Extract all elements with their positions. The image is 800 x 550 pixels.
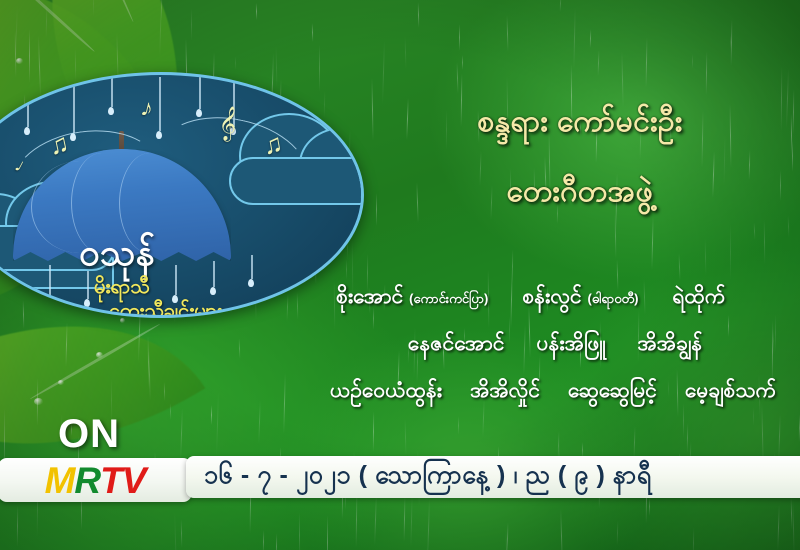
performer-name: ယဉ်ဝေယံထွန်း: [330, 377, 442, 408]
raindrop-icon: [199, 72, 201, 109]
mrtv-letter-r: R: [74, 462, 100, 499]
performer-name: ဆွေဆွေမြင့်: [568, 377, 657, 408]
broadcast-promo-graphic: ♫ ♩ ♪ 𝄞 ♫ ဝသုန် မိုးရာသီ တေးသီချင်းများ …: [0, 0, 800, 550]
performer-row: နေဇင်အောင် ပန်းအိဖြူ အိအိချွန်: [330, 330, 800, 377]
water-droplet: [16, 58, 23, 64]
raindrop-icon: [73, 75, 75, 133]
performer-name: ပန်းအိဖြူ: [536, 330, 605, 361]
water-droplet: [58, 380, 64, 385]
mrtv-letter-v: V: [122, 462, 146, 499]
schedule-text: ၁၆ - ၇ - ၂၀၂၁ ( သောကြာနေ့ ) ၊ ည ( ၉ ) နာ…: [186, 459, 652, 496]
treble-clef-icon: 𝄞: [217, 108, 239, 140]
raindrop-icon: [87, 271, 89, 299]
performer-name: စန်းလွင် (ဓါရာဝတီ): [522, 283, 638, 314]
raindrop-icon: [46, 299, 52, 307]
raindrop-icon: [24, 127, 30, 135]
raindrop-icon: [175, 265, 177, 295]
raindrop-icon: [172, 295, 178, 303]
schedule-bar: ၁၆ - ၇ - ၂၀၂၁ ( သောကြာနေ့ ) ၊ ည ( ၉ ) နာ…: [186, 456, 800, 498]
raindrop-icon: [159, 77, 161, 131]
water-droplet: [34, 398, 43, 405]
raindrop-icon: [27, 81, 29, 127]
water-droplet: [96, 352, 103, 358]
raindrop-icon: [156, 131, 162, 139]
performer-name: စိုးအောင် (ကောင်းကင်ပြာ): [336, 283, 488, 314]
raindrop-icon: [251, 255, 253, 279]
channel-logo: ON M R T V: [40, 414, 200, 502]
raindrop-icon: [84, 299, 90, 307]
raindrop-icon: [213, 261, 215, 287]
performer-row: စိုးအောင် (ကောင်းကင်ပြာ) စန်းလွင် (ဓါရာဝ…: [330, 283, 800, 330]
performer-name: အိအိလှိုင်: [470, 377, 540, 408]
water-droplet: [120, 318, 125, 323]
performer-name: ရဲထိုက်: [673, 283, 726, 314]
performer-name: အိအိချွန်: [638, 330, 703, 361]
logo-word-sub2: တေးသီချင်းများ: [109, 297, 222, 318]
performer-row: ယဉ်ဝေယံထွန်း အိအိလှိုင် ဆွေဆွေမြင့် မေ့ခ…: [330, 377, 800, 424]
raindrop-icon: [111, 72, 113, 107]
raindrop-icon: [248, 279, 254, 287]
raindrop-icon: [108, 107, 114, 115]
mrtv-letter-t: T: [100, 462, 122, 499]
mrtv-letter-m: M: [45, 462, 75, 499]
mrtv-logo-pill: M R T V: [0, 458, 192, 502]
music-note-icon: ♪: [138, 96, 155, 122]
performer-list: စိုးအောင် (ကောင်းကင်ပြာ) စန်းလွင် (ဓါရာဝ…: [330, 283, 800, 424]
raindrop-icon: [49, 265, 51, 299]
performer-name: မေ့ချစ်သက်: [685, 377, 776, 408]
raindrop-icon: [196, 109, 202, 117]
on-air-label: ON: [40, 414, 200, 454]
raindrop-icon: [210, 287, 216, 295]
performer-name: နေဇင်အောင်: [408, 330, 505, 361]
